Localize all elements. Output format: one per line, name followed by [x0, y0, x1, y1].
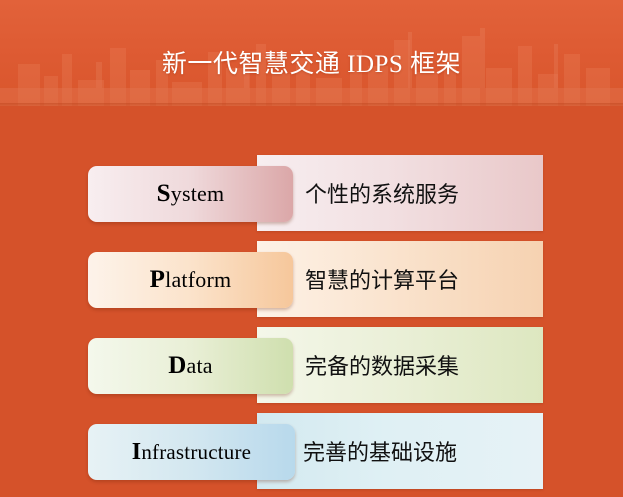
layer-description-panel-infrastructure: 完善的基础设施: [257, 413, 543, 489]
layer-row-system[interactable]: 个性的系统服务 System: [0, 151, 623, 237]
layer-description-data: 完备的数据采集: [305, 327, 459, 403]
layer-description-platform: 智慧的计算平台: [305, 241, 459, 317]
page-title: 新一代智慧交通 IDPS 框架: [0, 50, 623, 80]
layer-pill-infrastructure[interactable]: Infrastructure: [88, 424, 295, 480]
layer-label-rest-platform: latform: [165, 267, 231, 292]
slide-canvas: 新一代智慧交通 IDPS 框架 个性的系统服务 System 智慧的计算平台 P…: [0, 0, 623, 497]
layer-label-rest-data: ata: [187, 353, 213, 378]
layer-label-infrastructure: Infrastructure: [132, 439, 251, 466]
layer-description-panel-platform: 智慧的计算平台: [257, 241, 543, 317]
layer-pill-data[interactable]: Data: [88, 338, 293, 394]
layer-label-rest-infrastructure: nfrastructure: [141, 440, 251, 464]
layer-description-infrastructure: 完善的基础设施: [303, 413, 457, 489]
layer-description-panel-system: 个性的系统服务: [257, 155, 543, 231]
layer-description-panel-data: 完备的数据采集: [257, 327, 543, 403]
layer-label-platform: Platform: [150, 266, 232, 294]
header-band: 新一代智慧交通 IDPS 框架: [0, 0, 623, 106]
layer-initial-data: D: [168, 352, 186, 379]
layer-row-infrastructure[interactable]: 完善的基础设施 Infrastructure: [0, 409, 623, 495]
idps-layer-stack: 个性的系统服务 System 智慧的计算平台 Platform 完备的数据采集: [0, 106, 623, 497]
layer-label-system: System: [157, 180, 225, 208]
layer-initial-system: S: [157, 180, 171, 207]
layer-label-data: Data: [168, 352, 213, 380]
layer-initial-platform: P: [150, 266, 165, 293]
layer-description-system: 个性的系统服务: [305, 155, 459, 231]
layer-pill-system[interactable]: System: [88, 166, 293, 222]
layer-row-data[interactable]: 完备的数据采集 Data: [0, 323, 623, 409]
layer-pill-platform[interactable]: Platform: [88, 252, 293, 308]
layer-label-rest-system: ystem: [171, 181, 225, 206]
layer-row-platform[interactable]: 智慧的计算平台 Platform: [0, 237, 623, 323]
layer-initial-infrastructure: I: [132, 439, 142, 465]
